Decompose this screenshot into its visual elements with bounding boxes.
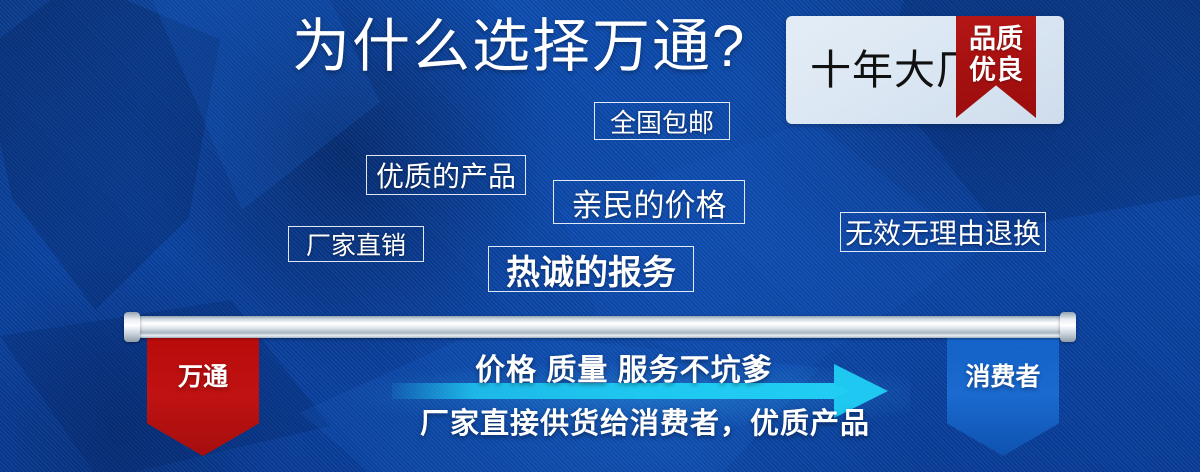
background-facet bbox=[0, 0, 220, 310]
slogan-primary: 价格 质量 服务不坑爹 bbox=[475, 353, 773, 389]
banner-title: 为什么选择万通? bbox=[292, 14, 746, 80]
feature-tag-free-return: 无效无理由退换 bbox=[840, 212, 1046, 252]
promo-banner: 为什么选择万通? 十年大厂 品质 优良 全国包邮 优质的产品 亲民的价格 厂家直… bbox=[0, 0, 1200, 472]
flag-manufacturer: 万通 bbox=[147, 320, 259, 456]
feature-tag-friendly-price: 亲民的价格 bbox=[553, 180, 745, 224]
flag-consumer: 消费者 bbox=[947, 320, 1059, 456]
ribbon-line-2: 优良 bbox=[956, 55, 1036, 85]
feature-tag-free-shipping: 全国包邮 bbox=[594, 102, 730, 140]
rail-bar bbox=[127, 316, 1071, 338]
feature-tag-factory-direct: 厂家直销 bbox=[288, 226, 424, 262]
rail-cap-left bbox=[124, 312, 140, 342]
feature-tag-quality-product: 优质的产品 bbox=[366, 155, 526, 195]
slogan-secondary: 厂家直接供货给消费者，优质产品 bbox=[420, 406, 870, 442]
ribbon-line-1: 品质 bbox=[956, 24, 1036, 54]
background-facet bbox=[300, 330, 820, 472]
feature-tag-sincere-service: 热诚的报务 bbox=[488, 246, 694, 292]
badge-label: 十年大厂 bbox=[810, 46, 978, 94]
rail-cap-right bbox=[1060, 312, 1076, 342]
